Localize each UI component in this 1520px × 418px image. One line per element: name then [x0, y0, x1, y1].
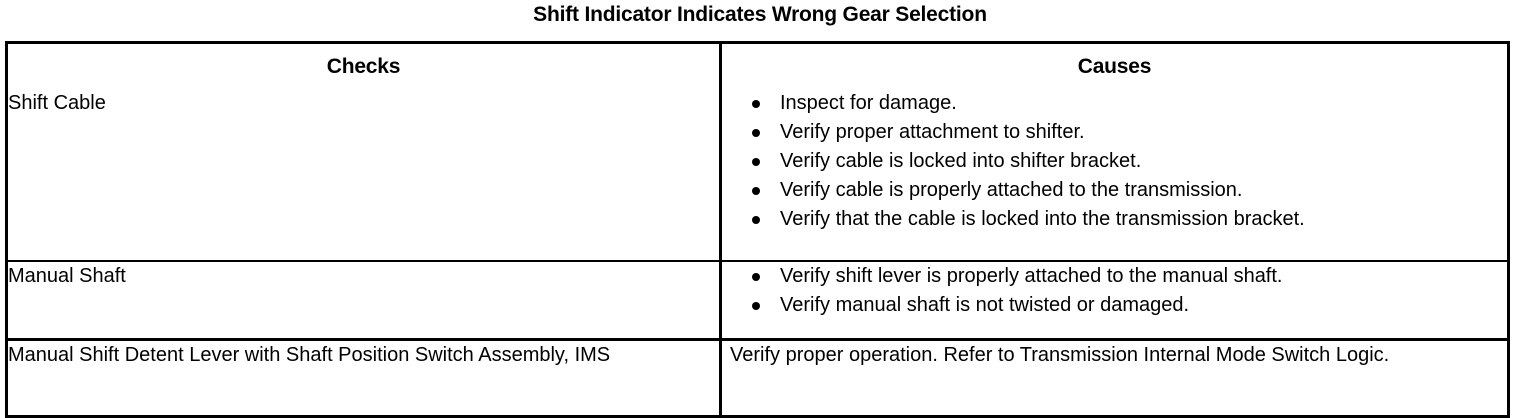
cell-check: Manual Shaft — [7, 261, 721, 339]
table-row: Shift Cable Inspect for damage. Verify p… — [7, 89, 1509, 261]
table-row: Manual Shift Detent Lever with Shaft Pos… — [7, 339, 1509, 416]
list-item: Verify cable is properly attached to the… — [730, 176, 1507, 205]
cell-check: Shift Cable — [7, 89, 721, 261]
table-header: Checks Causes — [7, 43, 1509, 90]
cell-causes: Verify proper operation. Refer to Transm… — [721, 339, 1509, 416]
bullet-icon — [752, 216, 760, 224]
list-item: Verify that the cable is locked into the… — [730, 205, 1507, 234]
cause-text: Verify that the cable is locked into the… — [780, 208, 1305, 230]
bullet-icon — [752, 129, 760, 137]
check-label: Shift Cable — [8, 89, 719, 118]
cause-text: Inspect for damage. — [780, 92, 957, 114]
bullet-icon — [752, 273, 760, 281]
table-row: Manual Shaft Verify shift lever is prope… — [7, 261, 1509, 339]
page-title: Shift Indicator Indicates Wrong Gear Sel… — [0, 2, 1520, 28]
bullet-icon — [752, 100, 760, 108]
list-item: Verify proper attachment to shifter. — [730, 118, 1507, 147]
cell-check: Manual Shift Detent Lever with Shaft Pos… — [7, 339, 721, 416]
table-header-row: Checks Causes — [7, 43, 1509, 90]
diagnostic-table-page: Shift Indicator Indicates Wrong Gear Sel… — [0, 0, 1520, 416]
cause-list: Verify shift lever is properly attached … — [730, 262, 1507, 320]
check-label: Manual Shaft — [8, 262, 719, 291]
diagnostic-table: Checks Causes Shift Cable Inspect for da… — [5, 41, 1510, 418]
bullet-icon — [752, 158, 760, 166]
list-item: Inspect for damage. — [730, 89, 1507, 118]
cause-text: Verify proper operation. Refer to Transm… — [730, 341, 1507, 370]
bullet-icon — [752, 187, 760, 195]
bullet-icon — [752, 302, 760, 310]
check-label: Manual Shift Detent Lever with Shaft Pos… — [8, 341, 719, 370]
list-item: Verify manual shaft is not twisted or da… — [730, 291, 1507, 320]
cell-causes: Inspect for damage. Verify proper attach… — [721, 89, 1509, 261]
cell-causes: Verify shift lever is properly attached … — [721, 261, 1509, 339]
cause-text: Verify manual shaft is not twisted or da… — [780, 294, 1189, 316]
cause-text: Verify proper attachment to shifter. — [780, 121, 1085, 143]
table-body: Shift Cable Inspect for damage. Verify p… — [7, 89, 1509, 416]
column-header-causes: Causes — [721, 43, 1509, 90]
cause-text: Verify cable is properly attached to the… — [780, 179, 1242, 201]
list-item: Verify shift lever is properly attached … — [730, 262, 1507, 291]
cause-text: Verify shift lever is properly attached … — [780, 265, 1282, 287]
list-item: Verify cable is locked into shifter brac… — [730, 147, 1507, 176]
column-header-checks: Checks — [7, 43, 721, 90]
cause-text: Verify cable is locked into shifter brac… — [780, 150, 1141, 172]
cause-list: Inspect for damage. Verify proper attach… — [730, 89, 1507, 234]
